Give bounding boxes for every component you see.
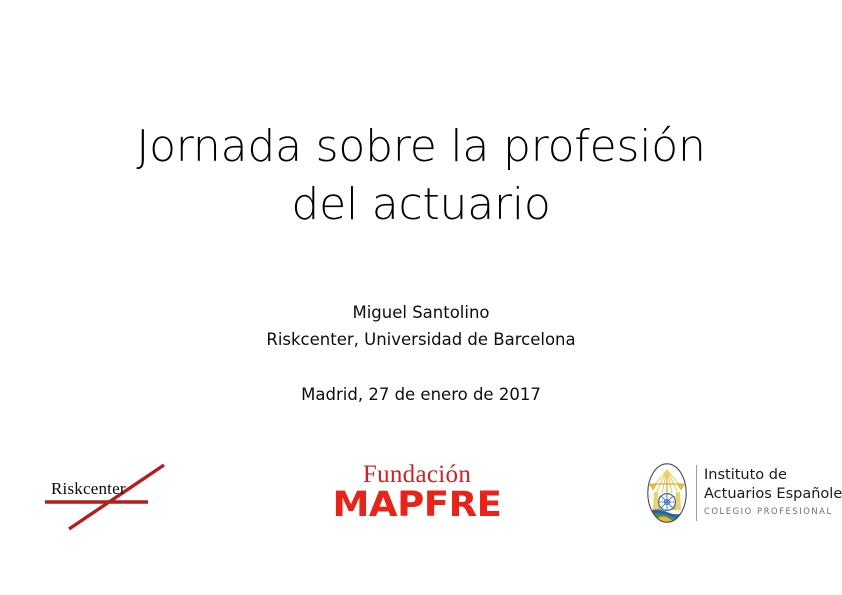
title-line-1: Jornada sobre la profesión [0, 118, 842, 176]
title-line-2: del actuario [0, 176, 842, 234]
event-place-and-date: Madrid, 27 de enero de 2017 [0, 381, 842, 408]
author-affiliation: Riskcenter, Universidad de Barcelona [0, 326, 842, 353]
slide-author-block: Miguel Santolino Riskcenter, Universidad… [0, 299, 842, 353]
instituto-actuarios-line-2: Actuarios Españoles [704, 485, 842, 504]
riskcenter-logo: Riskcenter [38, 452, 178, 534]
instituto-actuarios-line-1: Instituto de [704, 466, 842, 485]
mapfre-fundacion-text: Fundación [317, 461, 517, 488]
fundacion-mapfre-logo: Fundación MAPFRE [317, 461, 517, 523]
author-name: Miguel Santolino [0, 299, 842, 326]
instituto-actuarios-text-block: Instituto de Actuarios Españoles COLEGIO… [704, 466, 842, 518]
instituto-actuarios-line-3: COLEGIO PROFESIONAL [704, 504, 842, 518]
slide-date-block: Madrid, 27 de enero de 2017 [0, 381, 842, 408]
riskcenter-wordmark: Riskcenter [51, 479, 126, 499]
presentation-slide: Jornada sobre la profesión del actuario … [0, 0, 842, 595]
instituto-actuarios-logo: Instituto de Actuarios Españoles COLEGIO… [646, 462, 831, 528]
mapfre-wordmark: MAPFRE [311, 488, 523, 522]
slide-title: Jornada sobre la profesión del actuario [0, 118, 842, 234]
instituto-actuarios-seal-icon [646, 462, 688, 524]
instituto-actuarios-divider [696, 465, 697, 521]
